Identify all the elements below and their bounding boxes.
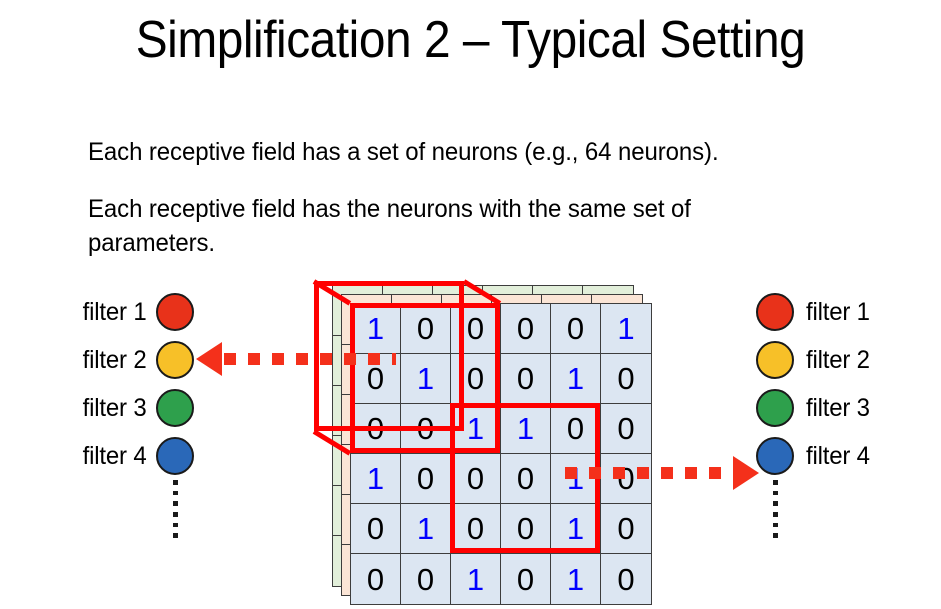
vertical-ellipsis-icon	[156, 480, 194, 538]
feature-map-cell: 0	[351, 354, 401, 404]
filter-legend-right: filter 1 filter 2 filter 3 filter 4	[756, 288, 936, 538]
filter-1-color-dot	[756, 293, 794, 331]
body-text-line-1: Each receptive field has a set of neuron…	[88, 135, 719, 169]
legend-label-filter-2: filter 2	[806, 346, 870, 374]
filter-3-color-dot	[156, 389, 194, 427]
feature-map-cell: 0	[351, 554, 401, 604]
filter-4-color-dot	[756, 437, 794, 475]
legend-label-filter-1: filter 1	[806, 298, 870, 326]
legend-item-filter-1: filter 1	[44, 288, 194, 336]
feature-map-cell: 1	[501, 404, 551, 454]
legend-label-filter-4: filter 4	[82, 442, 146, 470]
feature-map-cell: 1	[551, 354, 601, 404]
legend-item-filter-2: filter 2	[44, 336, 194, 384]
legend-item-filter-1: filter 1	[756, 288, 936, 336]
feature-map-cell: 1	[351, 304, 401, 354]
feature-map-cell: 0	[601, 504, 651, 554]
vertical-ellipsis-icon	[756, 480, 794, 538]
feature-map-cell: 1	[401, 504, 451, 554]
feature-map-cell: 0	[401, 554, 451, 604]
page-title: Simplification 2 – Typical Setting	[38, 8, 904, 72]
feature-map-cell: 1	[551, 454, 601, 504]
filter-2-color-dot	[756, 341, 794, 379]
legend-label-filter-3: filter 3	[806, 394, 870, 422]
feature-map-cell: 1	[351, 454, 401, 504]
filter-1-color-dot	[156, 293, 194, 331]
feature-map-cell: 1	[551, 504, 601, 554]
filter-2-color-dot	[156, 341, 194, 379]
feature-map-cell: 0	[401, 304, 451, 354]
filter-4-color-dot	[156, 437, 194, 475]
feature-map-cell: 0	[501, 454, 551, 504]
feature-map-cell: 0	[501, 504, 551, 554]
legend-item-filter-4: filter 4	[44, 432, 194, 480]
feature-map-cell: 0	[351, 404, 401, 454]
feature-map-cell: 0	[601, 454, 651, 504]
filter-3-color-dot	[756, 389, 794, 427]
feature-map-cell: 0	[551, 304, 601, 354]
feature-map-cell: 0	[451, 304, 501, 354]
legend-label-filter-4: filter 4	[806, 442, 870, 470]
feature-map-cell: 1	[451, 554, 501, 604]
feature-map-cell: 0	[501, 554, 551, 604]
feature-map-cell: 0	[501, 304, 551, 354]
body-text-line-2: Each receptive field has the neurons wit…	[88, 192, 691, 226]
feature-map-cell: 0	[501, 354, 551, 404]
legend-item-filter-3: filter 3	[756, 384, 936, 432]
feature-map-cell: 0	[601, 404, 651, 454]
feature-map-cell: 1	[601, 304, 651, 354]
feature-map-cell: 0	[451, 354, 501, 404]
feature-map-cell: 0	[551, 404, 601, 454]
feature-map-cell: 0	[601, 354, 651, 404]
feature-map-cell: 0	[601, 554, 651, 604]
filter-legend-left: filter 1 filter 2 filter 3 filter 4	[44, 288, 194, 538]
legend-label-filter-3: filter 3	[82, 394, 146, 422]
legend-label-filter-2: filter 2	[82, 346, 146, 374]
feature-map-stack: 100001010010001100100010010010001010 100…	[332, 285, 652, 605]
feature-map-cell: 0	[451, 454, 501, 504]
body-text-line-3: parameters.	[88, 226, 215, 260]
feature-map-cell: 0	[451, 504, 501, 554]
feature-map-cell: 0	[351, 504, 401, 554]
feature-map-layer-front: 100001010010001100100010010010001010	[350, 303, 652, 605]
legend-item-filter-4: filter 4	[756, 432, 936, 480]
legend-label-filter-1: filter 1	[82, 298, 146, 326]
feature-map-cell: 0	[401, 454, 451, 504]
legend-item-filter-3: filter 3	[44, 384, 194, 432]
feature-map-cell: 1	[401, 354, 451, 404]
feature-map-cell: 0	[401, 404, 451, 454]
feature-map-cell: 1	[451, 404, 501, 454]
arrow-head-left-icon	[196, 342, 222, 376]
legend-item-filter-2: filter 2	[756, 336, 936, 384]
feature-map-cell: 1	[551, 554, 601, 604]
